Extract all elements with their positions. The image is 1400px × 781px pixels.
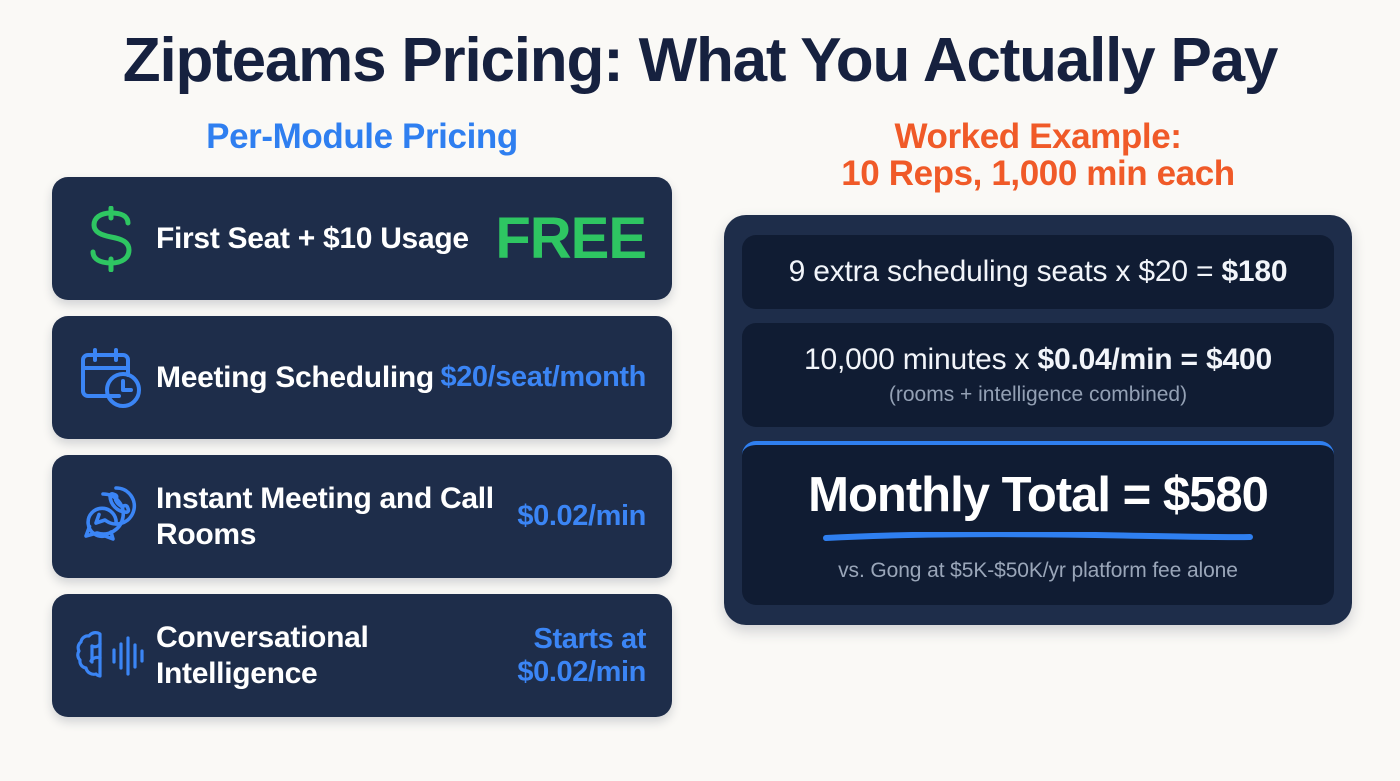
per-module-pricing-heading: Per-Module Pricing — [52, 118, 672, 155]
page-title: Zipteams Pricing: What You Actually Pay — [0, 0, 1400, 92]
module-card-list: First Seat + $10 Usage FREE Meeting Sche… — [52, 177, 672, 717]
monthly-total-row: Monthly Total = $580 vs. Gong at $5K-$50… — [742, 441, 1334, 605]
example-row-prefix: 9 extra scheduling seats x $20 = — [789, 255, 1222, 288]
module-price: $20/seat/month — [440, 361, 646, 394]
module-label: Instant Meeting and Call Rooms — [148, 481, 517, 553]
module-label: Conversational Intelligence — [148, 620, 517, 692]
module-price: $0.02/min — [517, 500, 646, 533]
module-card-meeting-scheduling[interactable]: Meeting Scheduling $20/seat/month — [52, 316, 672, 439]
worked-example-heading: Worked Example: 10 Reps, 1,000 min each — [724, 118, 1352, 193]
example-row-emphasis: $0.04/min = $400 — [1037, 343, 1271, 376]
monthly-total-comparison: vs. Gong at $5K-$50K/yr platform fee alo… — [756, 559, 1320, 583]
calendar-clock-icon — [74, 341, 148, 415]
total-underline-stroke — [823, 532, 1253, 541]
brain-waveform-icon — [74, 619, 148, 693]
worked-example-heading-line1: Worked Example: — [724, 118, 1352, 155]
worked-example-heading-line2: 10 Reps, 1,000 min each — [724, 155, 1352, 192]
module-label: First Seat + $10 Usage — [148, 221, 495, 257]
per-module-pricing-column: Per-Module Pricing First Seat + $10 Usag… — [52, 118, 672, 717]
example-row-emphasis: $180 — [1221, 255, 1287, 288]
module-price: Starts at $0.02/min — [517, 623, 646, 689]
module-label: Meeting Scheduling — [148, 360, 440, 396]
monthly-total-text: Monthly Total = $580 — [808, 471, 1268, 532]
chat-bubbles-phone-icon — [74, 480, 148, 554]
module-card-instant-meeting-rooms[interactable]: Instant Meeting and Call Rooms $0.02/min — [52, 455, 672, 578]
module-card-conversational-intelligence[interactable]: Conversational Intelligence Starts at $0… — [52, 594, 672, 717]
dollar-sign-icon — [74, 202, 148, 276]
example-row-text: 9 extra scheduling seats x $20 = $180 — [756, 253, 1320, 291]
content-columns: Per-Module Pricing First Seat + $10 Usag… — [0, 118, 1400, 717]
module-card-first-seat[interactable]: First Seat + $10 Usage FREE — [52, 177, 672, 300]
example-row-prefix: 10,000 minutes x — [804, 343, 1037, 376]
example-row-subtext: (rooms + intelligence combined) — [756, 381, 1320, 408]
example-row-minutes: 10,000 minutes x $0.04/min = $400 (rooms… — [742, 323, 1334, 427]
worked-example-panel: 9 extra scheduling seats x $20 = $180 10… — [724, 215, 1352, 625]
module-price: FREE — [495, 206, 646, 272]
worked-example-column: Worked Example: 10 Reps, 1,000 min each … — [724, 118, 1352, 625]
example-row-text: 10,000 minutes x $0.04/min = $400 — [756, 341, 1320, 379]
example-row-seats: 9 extra scheduling seats x $20 = $180 — [742, 235, 1334, 309]
